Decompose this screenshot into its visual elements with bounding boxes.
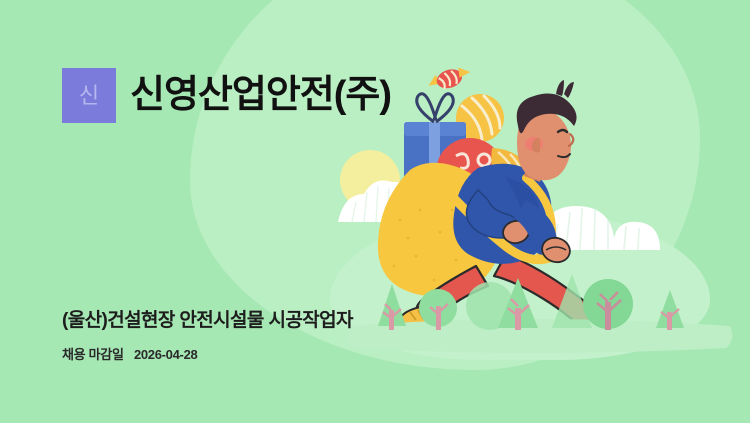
posting-text-block: (울산)건설현장 안전시설물 시공작업자 채용 마감일 2026-04-28 [62,305,353,363]
brand-row: 신 신영산업안전(주) [62,68,391,123]
illustration-running-person [330,60,750,360]
deadline-date: 2026-04-28 [134,347,198,362]
job-posting-card: 신 신영산업안전(주) (울산)건설현장 안전시설물 시공작업자 채용 마감일 … [0,0,750,423]
company-name: 신영산업안전(주) [130,76,391,116]
candy-icon [426,63,473,94]
company-logo-badge: 신 [62,68,116,123]
deadline-label: 채용 마감일 [62,347,124,362]
job-title: (울산)건설현장 안전시설물 시공작업자 [62,305,353,332]
tree-conifer-1 [378,284,406,330]
deadline-row: 채용 마감일 2026-04-28 [62,344,353,363]
company-logo-badge-text: 신 [79,85,99,107]
tree-conifer-7 [656,290,684,330]
